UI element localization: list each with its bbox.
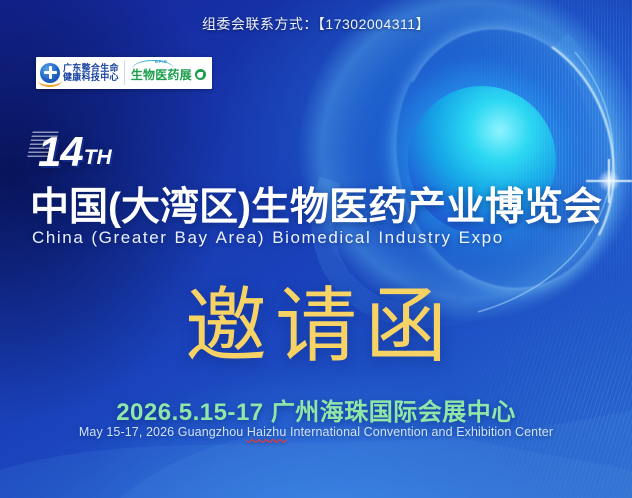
medical-cross-circle-icon [40,63,60,83]
spellcheck-flagged-word: Haizhu [247,425,287,439]
date-venue-chinese: 2026.5.15-17 广州海珠国际会展中心 [0,392,632,427]
invitation-poster: 组委会联系方式：【17302004311】 广东整合生命 健康科技中心 BPIE… [0,0,632,498]
date-en-prefix: May 15-17, 2026 Guangzhou [79,425,247,439]
title-en-word: Biomedical [272,228,371,248]
orange-swoosh-icon [38,74,62,87]
logo-left-line2: 健康科技中心 [63,73,119,82]
event-title-chinese: 中国(大湾区)生物医药产业博览会 [30,176,602,232]
title-en-word: Bay [175,228,209,248]
logo-left-organization: 广东整合生命 健康科技中心 [36,57,124,89]
title-en-word: China [32,228,84,248]
title-en-word: Industry [378,228,451,248]
edition-badge: 14 TH [38,133,112,171]
edition-number: 14 [38,133,83,171]
green-leaf-icon [195,69,206,80]
logo-lockup: 广东整合生命 健康科技中心 BPIE 生物医药展 [36,57,212,89]
title-en-word: Area) [216,228,266,248]
date-venue-english: May 15-17, 2026 Guangzhou Haizhu Interna… [0,425,632,439]
organizer-contact-line: 组委会联系方式：【17302004311】 [0,14,632,34]
edition-suffix: TH [83,147,112,171]
date-en-suffix: International Convention and Exhibition … [286,425,553,439]
invitation-headline: 邀请函 [0,286,632,368]
logo-arc-text: BPIE [155,59,168,64]
logo-right-expo: BPIE 生物医药展 [125,57,212,89]
light-crescent-arc [369,4,632,313]
event-title-english: China(GreaterBayArea)BiomedicalIndustryE… [32,228,511,248]
title-en-word: (Greater [91,228,167,248]
title-en-word: Expo [459,228,504,248]
logo-left-text: 广东整合生命 健康科技中心 [63,64,119,83]
